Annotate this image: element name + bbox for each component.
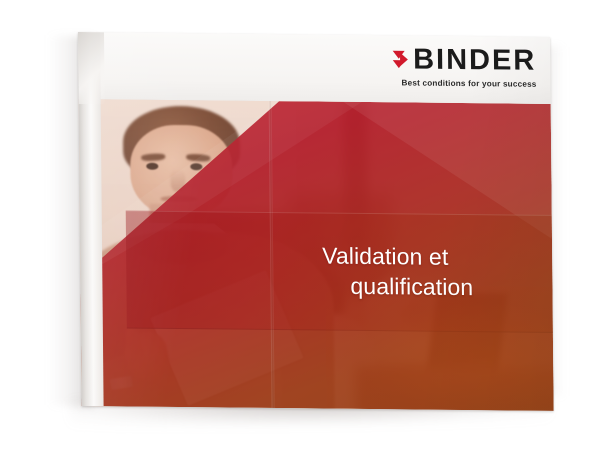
- man-eye-left: [146, 162, 158, 169]
- man-eyebrow-left: [141, 153, 165, 161]
- man-mouth: [161, 196, 198, 202]
- photo-desk: [355, 366, 554, 411]
- man-eyebrow-right: [186, 153, 210, 161]
- binder-triangles-icon: [392, 50, 409, 69]
- scene-background: Validation et qualification BINDER Best …: [0, 0, 605, 450]
- cover-header-band: BINDER Best conditions for your success: [78, 32, 551, 104]
- man-nose: [170, 169, 185, 192]
- binder-wordmark: BINDER: [413, 46, 536, 76]
- cover-title-line-2: qualification: [322, 272, 552, 304]
- cover-title: Validation et qualification: [126, 210, 553, 332]
- binder-logo: BINDER Best conditions for your success: [392, 45, 537, 89]
- cover-title-line-1: Validation et: [322, 242, 552, 274]
- brochure-cover: Validation et qualification BINDER Best …: [78, 32, 554, 411]
- logo-row: BINDER: [392, 45, 536, 76]
- man-eye-right: [191, 163, 203, 170]
- binder-tagline: Best conditions for your success: [392, 78, 536, 89]
